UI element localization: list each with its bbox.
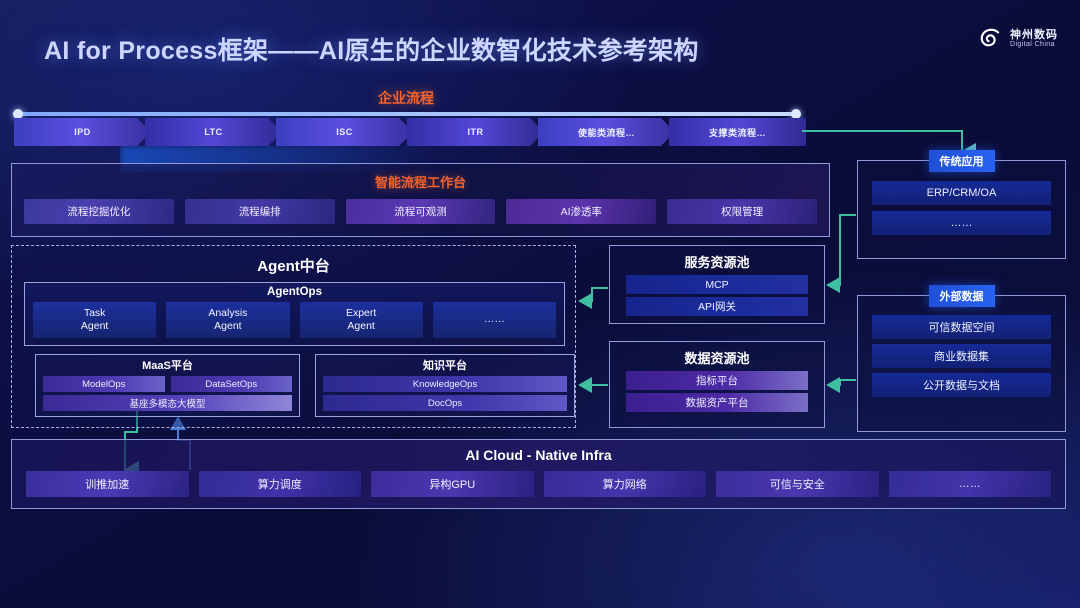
legacy-apps-item-label: …… xyxy=(951,217,973,229)
maas-title: MaaS平台 xyxy=(36,357,299,373)
agent-card-line1: Analysis xyxy=(208,307,247,320)
process-step-label: 支撑类流程… xyxy=(709,126,766,139)
process-chevron-bar: IPD LTC ISC ITR 使能类流程… 支撑类流程… xyxy=(14,118,800,146)
process-step-isc[interactable]: ISC xyxy=(276,118,413,146)
infra-title: AI Cloud - Native Infra xyxy=(12,447,1065,463)
service-pool-item-label: API网关 xyxy=(698,299,736,314)
infra-item-label: 算力调度 xyxy=(258,476,302,492)
data-pool-item-label: 指标平台 xyxy=(696,373,738,388)
wire-service-pool-to-agent xyxy=(580,288,608,301)
external-data-item-label: 可信数据空间 xyxy=(929,319,995,335)
agent-hub-title: Agent中台 xyxy=(12,255,575,276)
logo-text: 神州数码 Digital China xyxy=(1010,30,1058,49)
maas-item-modelops[interactable]: ModelOps xyxy=(43,376,165,392)
knowledge-item-label: KnowledgeOps xyxy=(413,379,477,390)
process-step-label: ISC xyxy=(336,127,353,137)
knowledge-item-label: DocOps xyxy=(428,398,462,409)
data-pool-items: 指标平台 数据资产平台 xyxy=(610,367,824,412)
maas-item-label: 基座多模态大模型 xyxy=(129,396,205,410)
agent-card-line1: Expert xyxy=(346,307,376,320)
agent-card-line1: Task xyxy=(84,307,106,320)
agent-card-expert[interactable]: Expert Agent xyxy=(300,302,423,338)
knowledge-panel: 知识平台 KnowledgeOps DocOps xyxy=(315,354,575,417)
maas-panel: MaaS平台 ModelOps DataSetOps 基座多模态大模型 xyxy=(35,354,300,417)
data-pool-item-data-asset[interactable]: 数据资产平台 xyxy=(626,393,808,412)
agent-card-analysis[interactable]: Analysis Agent xyxy=(166,302,289,338)
service-pool-items: MCP API网关 xyxy=(610,271,824,316)
infra-item-compute-network[interactable]: 算力网络 xyxy=(544,471,707,497)
legacy-apps-items: ERP/CRM/OA …… xyxy=(858,161,1065,235)
knowledge-item-knowledgeops[interactable]: KnowledgeOps xyxy=(323,376,567,392)
process-title: 企业流程 xyxy=(0,88,812,108)
process-step-enablement[interactable]: 使能类流程… xyxy=(538,118,675,146)
external-data-item-label: 公开数据与文档 xyxy=(923,377,1000,393)
infra-item-more[interactable]: …… xyxy=(889,471,1052,497)
logo-en: Digital China xyxy=(1010,41,1058,48)
agent-card-line2: Agent xyxy=(81,320,108,333)
workbench-item-orchestration[interactable]: 流程编排 xyxy=(185,199,335,224)
workbench-item-label: 权限管理 xyxy=(721,204,763,219)
external-data-items: 可信数据空间 商业数据集 公开数据与文档 xyxy=(858,296,1065,397)
workbench-item-label: AI渗透率 xyxy=(561,204,602,219)
process-rail xyxy=(14,112,800,116)
maas-item-label: ModelOps xyxy=(82,379,125,390)
infra-item-label: 可信与安全 xyxy=(770,476,825,492)
process-step-label: ITR xyxy=(468,127,484,137)
workbench-item-label: 流程挖掘优化 xyxy=(67,204,130,219)
workbench-item-observability[interactable]: 流程可观测 xyxy=(346,199,496,224)
external-data-tag: 外部数据 xyxy=(929,285,995,307)
service-pool-panel: 服务资源池 MCP API网关 xyxy=(609,245,825,324)
knowledge-item-docops[interactable]: DocOps xyxy=(323,395,567,411)
workbench-item-ai-penetration[interactable]: AI渗透率 xyxy=(506,199,656,224)
external-data-panel: 外部数据 可信数据空间 商业数据集 公开数据与文档 xyxy=(857,295,1066,432)
data-pool-item-metrics[interactable]: 指标平台 xyxy=(626,371,808,390)
infra-item-trust-security[interactable]: 可信与安全 xyxy=(716,471,879,497)
process-step-ipd[interactable]: IPD xyxy=(14,118,151,146)
process-step-support[interactable]: 支撑类流程… xyxy=(669,118,806,146)
external-data-item-trusted-space[interactable]: 可信数据空间 xyxy=(872,315,1051,339)
agentops-title: AgentOps xyxy=(25,286,564,298)
process-step-label: LTC xyxy=(204,127,222,137)
external-data-item-label: 商业数据集 xyxy=(934,348,989,364)
infra-item-label: …… xyxy=(959,478,981,490)
infra-panel: AI Cloud - Native Infra 训推加速 算力调度 异构GPU … xyxy=(11,439,1066,509)
service-pool-item-mcp[interactable]: MCP xyxy=(626,275,808,294)
service-pool-item-api-gateway[interactable]: API网关 xyxy=(626,297,808,316)
legacy-apps-item-more[interactable]: …… xyxy=(872,211,1051,235)
process-step-label: IPD xyxy=(74,127,91,137)
maas-row-1: ModelOps DataSetOps xyxy=(36,373,299,392)
workbench-item-label: 流程编排 xyxy=(239,204,281,219)
service-pool-item-label: MCP xyxy=(705,279,728,291)
maas-item-datasetops[interactable]: DataSetOps xyxy=(171,376,293,392)
wire-legacy-to-service-pool xyxy=(828,215,856,285)
infra-item-label: 算力网络 xyxy=(603,476,647,492)
external-data-item-commercial[interactable]: 商业数据集 xyxy=(872,344,1051,368)
infra-item-compute-scheduling[interactable]: 算力调度 xyxy=(199,471,362,497)
data-pool-item-label: 数据资产平台 xyxy=(686,395,749,410)
legacy-apps-tag: 传统应用 xyxy=(929,150,995,172)
agent-hub-panel: Agent中台 AgentOps Task Agent Analysis Age… xyxy=(11,245,576,428)
service-pool-title: 服务资源池 xyxy=(610,252,824,271)
wire-external-to-data-pool xyxy=(828,380,856,385)
wire-process-to-legacy xyxy=(802,131,962,152)
agent-card-line2: Agent xyxy=(214,320,241,333)
legacy-apps-item-erp[interactable]: ERP/CRM/OA xyxy=(872,181,1051,205)
workbench-item-label: 流程可观测 xyxy=(394,204,447,219)
brand-logo: 神州数码 Digital China xyxy=(977,26,1058,52)
knowledge-row-1: KnowledgeOps xyxy=(316,373,574,392)
agent-card-task[interactable]: Task Agent xyxy=(33,302,156,338)
external-data-item-public-docs[interactable]: 公开数据与文档 xyxy=(872,373,1051,397)
legacy-apps-item-label: ERP/CRM/OA xyxy=(927,187,997,199)
process-step-label: 使能类流程… xyxy=(578,126,635,139)
swirl-logo-icon xyxy=(977,26,1003,52)
infra-item-heterogeneous-gpu[interactable]: 异构GPU xyxy=(371,471,534,497)
workbench-item-permissions[interactable]: 权限管理 xyxy=(667,199,817,224)
agentops-panel: AgentOps Task Agent Analysis Agent Exper… xyxy=(24,282,565,346)
process-step-ltc[interactable]: LTC xyxy=(145,118,282,146)
process-step-itr[interactable]: ITR xyxy=(407,118,544,146)
workbench-panel: 智能流程工作台 流程挖掘优化 流程编排 流程可观测 AI渗透率 权限管理 xyxy=(11,163,830,237)
maas-row-2: 基座多模态大模型 xyxy=(36,392,299,411)
knowledge-title: 知识平台 xyxy=(316,357,574,373)
agentops-items: Task Agent Analysis Agent Expert Agent …… xyxy=(25,298,564,338)
maas-item-label: DataSetOps xyxy=(205,379,257,390)
architecture-diagram: AI for Process框架——AI原生的企业数智化技术参考架构 神州数码 … xyxy=(0,0,1080,608)
infra-item-label: 异构GPU xyxy=(429,476,475,492)
legacy-apps-panel: 传统应用 ERP/CRM/OA …… xyxy=(857,160,1066,259)
infra-item-training-accel[interactable]: 训推加速 xyxy=(26,471,189,497)
knowledge-row-2: DocOps xyxy=(316,392,574,411)
infra-items: 训推加速 算力调度 异构GPU 算力网络 可信与安全 …… xyxy=(12,463,1065,497)
maas-item-foundation-model[interactable]: 基座多模态大模型 xyxy=(43,395,292,411)
agent-card-line1: …… xyxy=(484,313,505,326)
workbench-item-process-mining[interactable]: 流程挖掘优化 xyxy=(24,199,174,224)
infra-item-label: 训推加速 xyxy=(85,476,129,492)
workbench-items: 流程挖掘优化 流程编排 流程可观测 AI渗透率 权限管理 xyxy=(12,191,829,224)
agent-card-more[interactable]: …… xyxy=(433,302,556,338)
logo-cn: 神州数码 xyxy=(1010,30,1058,42)
data-pool-panel: 数据资源池 指标平台 数据资产平台 xyxy=(609,341,825,428)
agent-card-line2: Agent xyxy=(347,320,374,333)
page-title: AI for Process框架——AI原生的企业数智化技术参考架构 xyxy=(44,31,699,67)
workbench-title: 智能流程工作台 xyxy=(12,172,829,191)
data-pool-title: 数据资源池 xyxy=(610,348,824,367)
